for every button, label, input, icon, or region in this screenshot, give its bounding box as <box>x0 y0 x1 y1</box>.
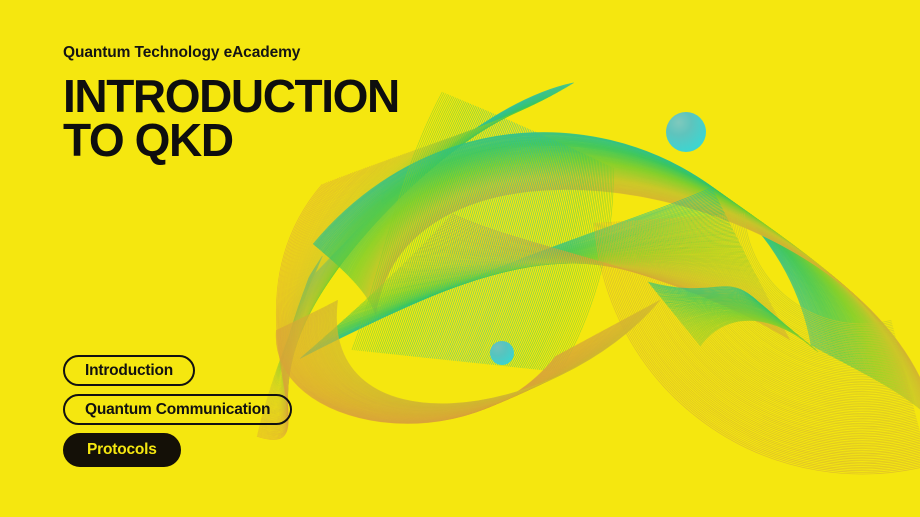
page-title: INTRODUCTION TO QKD <box>63 74 399 162</box>
chip-introduction-label: Introduction <box>85 362 173 380</box>
slide-canvas: Quantum Technology eAcademy INTRODUCTION… <box>0 0 920 517</box>
chip-introduction[interactable]: Introduction <box>63 355 195 386</box>
chip-protocols[interactable]: Protocols <box>63 433 181 467</box>
teal-sphere-large <box>666 112 706 152</box>
chip-quantum-communication-label: Quantum Communication <box>85 401 270 419</box>
eyebrow-label: Quantum Technology eAcademy <box>63 44 399 62</box>
chip-protocols-label: Protocols <box>87 441 157 459</box>
chip-quantum-communication[interactable]: Quantum Communication <box>63 394 292 425</box>
teal-sphere-small <box>490 341 514 365</box>
agenda-chip-list: Introduction Quantum Communication Proto… <box>63 355 292 467</box>
title-block: Quantum Technology eAcademy INTRODUCTION… <box>63 44 399 162</box>
